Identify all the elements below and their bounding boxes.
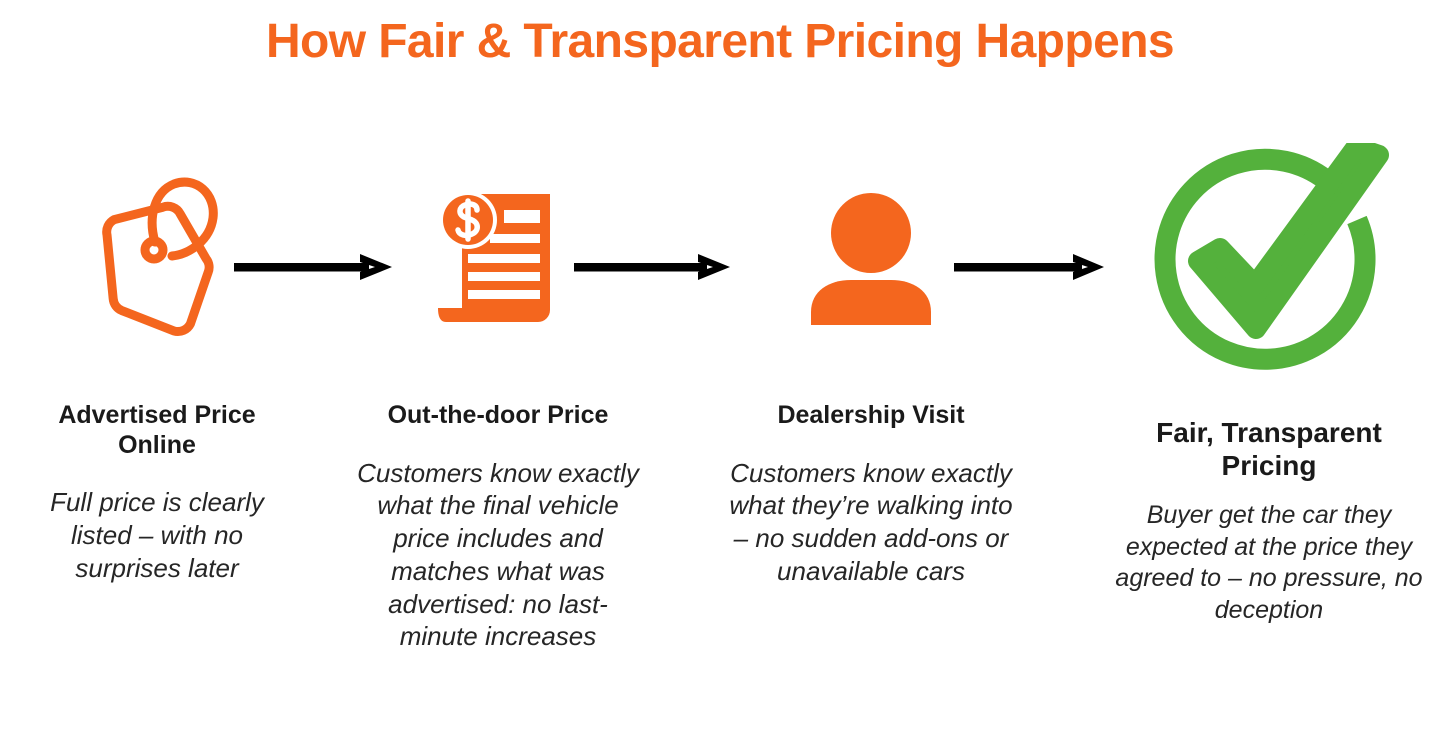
step-4-icon-slot — [1106, 130, 1432, 402]
infographic-canvas: How Fair & Transparent Pricing Happens A… — [0, 0, 1440, 746]
step-2-out-the-door-price: Out-the-door Price Customers know exactl… — [350, 130, 646, 653]
step-2-title: Out-the-door Price — [350, 401, 646, 431]
step-4-title: Fair, Transparent Pricing — [1106, 416, 1432, 482]
step-3-body: Customers know exactly what they’re walk… — [726, 457, 1016, 588]
person-icon — [803, 185, 939, 330]
step-3-title: Dealership Visit — [726, 401, 1016, 431]
step-4-body: Buyer get the car they expected at the p… — [1106, 500, 1432, 626]
step-2-body: Customers know exactly what the final ve… — [350, 457, 646, 654]
step-4-fair-transparent-pricing: Fair, Transparent Pricing Buyer get the … — [1106, 130, 1432, 626]
step-1-body: Full price is clearly listed – with no s… — [18, 486, 296, 584]
page-title: How Fair & Transparent Pricing Happens — [0, 12, 1440, 72]
connector-arrow-2 — [574, 252, 732, 282]
price-tag-icon — [82, 170, 232, 345]
step-3-dealership-visit: Dealership Visit Customers know exactly … — [726, 130, 1016, 588]
connector-arrow-3 — [954, 252, 1106, 282]
invoice-dollar-icon — [432, 182, 564, 334]
check-circle-icon — [1143, 143, 1395, 389]
arrow-right-icon — [574, 252, 732, 282]
step-1-advertised-price-online: Advertised Price Online Full price is cl… — [18, 130, 296, 584]
arrow-right-icon — [954, 252, 1106, 282]
step-1-title: Advertised Price Online — [18, 401, 296, 460]
